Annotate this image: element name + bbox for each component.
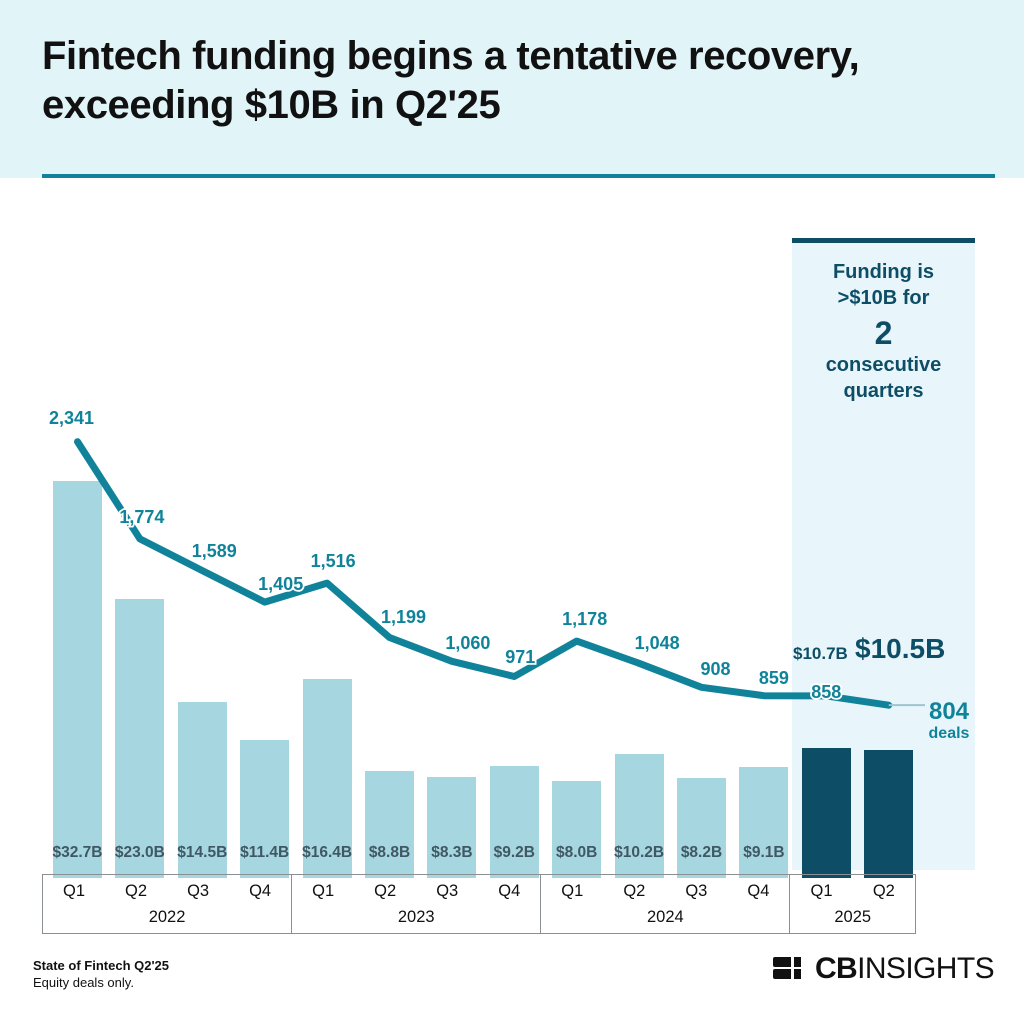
deal-value-label: 1,405 — [242, 574, 320, 595]
axis-year-group-2024: Q1Q2Q3Q42024 — [541, 875, 790, 933]
axis-quarter-label: Q2 — [105, 882, 167, 901]
axis-quarter-label: Q2 — [354, 882, 416, 901]
axis-quarter-label: Q1 — [43, 882, 105, 901]
axis-year-group-2025: Q1Q22025 — [790, 875, 915, 933]
deal-value-label: 1,048 — [618, 633, 696, 654]
deal-value-label: 1,516 — [294, 551, 372, 572]
deal-value-label: 1,199 — [365, 607, 443, 628]
end-deals-number: 804 — [915, 699, 983, 724]
axis-year-group-2022: Q1Q2Q3Q42022 — [43, 875, 292, 933]
deal-value-label: 2,341 — [33, 408, 111, 429]
axis-quarter-label: Q1 — [541, 882, 603, 901]
x-axis-table: Q1Q2Q3Q42022Q1Q2Q3Q42023Q1Q2Q3Q42024Q1Q2… — [42, 874, 916, 934]
axis-quarter-label: Q3 — [416, 882, 478, 901]
deal-value-label: 1,589 — [175, 541, 253, 562]
axis-quarter-label: Q1 — [790, 882, 852, 901]
title-line-1: Fintech funding begins a tentative recov… — [42, 32, 1002, 81]
deal-value-label: 858 — [787, 682, 865, 703]
axis-year-label: 2023 — [292, 908, 540, 933]
end-deals-annotation: 804 deals — [915, 699, 983, 745]
logo-thin: INSIGHTS — [857, 952, 994, 985]
axis-quarter-label: Q1 — [292, 882, 354, 901]
funding-label-q2-2025: $10.5B — [855, 633, 945, 665]
end-deals-unit: deals — [915, 724, 983, 745]
deal-value-label: 1,178 — [546, 609, 624, 630]
cb-insights-mark-icon — [772, 956, 806, 982]
source-note: Equity deals only. — [33, 975, 169, 990]
axis-year-label: 2025 — [790, 908, 915, 933]
source-footnote: State of Fintech Q2'25 Equity deals only… — [33, 958, 169, 990]
title-line-2: exceeding $10B in Q2'25 — [42, 81, 1002, 130]
axis-year-label: 2024 — [541, 908, 789, 933]
axis-quarter-label: Q3 — [167, 882, 229, 901]
axis-year-label: 2022 — [43, 908, 291, 933]
cb-insights-wordmark: CBINSIGHTS — [815, 952, 994, 986]
axis-quarter-label: Q2 — [603, 882, 665, 901]
deals-line-chart — [0, 178, 1024, 878]
axis-quarter-label: Q2 — [853, 882, 915, 901]
axis-quarter-label: Q4 — [727, 882, 789, 901]
axis-quarter-label: Q3 — [665, 882, 727, 901]
logo-bold: CB — [815, 952, 857, 985]
page-title: Fintech funding begins a tentative recov… — [42, 32, 1002, 130]
chart-page: Fintech funding begins a tentative recov… — [0, 0, 1024, 1024]
axis-quarter-label: Q4 — [478, 882, 540, 901]
cb-insights-logo: CBINSIGHTS — [772, 952, 994, 986]
deal-value-label: 971 — [481, 647, 559, 668]
deal-value-label: 1,774 — [103, 507, 181, 528]
plot-area: Funding is >$10B for 2 consecutive quart… — [0, 178, 1024, 878]
source-title: State of Fintech Q2'25 — [33, 958, 169, 973]
axis-year-group-2023: Q1Q2Q3Q42023 — [292, 875, 541, 933]
axis-quarter-label: Q4 — [229, 882, 291, 901]
funding-label-q1-2025: $10.7B — [793, 644, 848, 664]
